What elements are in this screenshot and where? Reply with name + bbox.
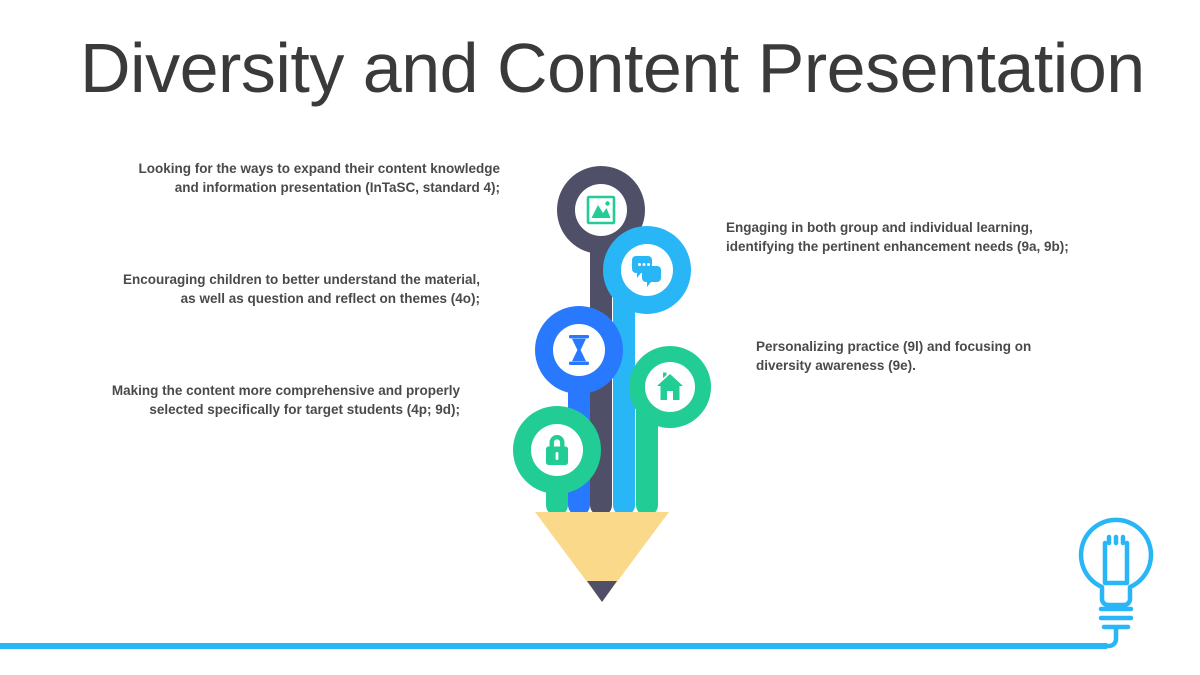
callout-text-hourglass: Encouraging children to better understan… xyxy=(110,271,480,308)
lightbulb-icon xyxy=(1060,520,1151,646)
callout-text-image: Looking for the ways to expand their con… xyxy=(130,160,500,197)
ring-home[interactable] xyxy=(629,346,711,428)
slide-canvas: Diversity and Content Presentation Looki… xyxy=(0,0,1200,675)
ring-lock[interactable] xyxy=(513,406,601,494)
ring-hourglass[interactable] xyxy=(535,306,623,394)
pencil-infographic xyxy=(470,150,750,620)
callout-text-chat: Engaging in both group and individual le… xyxy=(726,219,1086,256)
page-title: Diversity and Content Presentation xyxy=(80,26,1140,110)
lightbulb-decoration xyxy=(1060,485,1190,655)
callout-text-home: Personalizing practice (9l) and focusing… xyxy=(756,338,1086,375)
callout-text-lock: Making the content more comprehensive an… xyxy=(100,382,460,419)
pencil-tip xyxy=(587,581,617,602)
ring-chat[interactable] xyxy=(603,226,691,314)
baseline-rule xyxy=(0,643,1107,649)
